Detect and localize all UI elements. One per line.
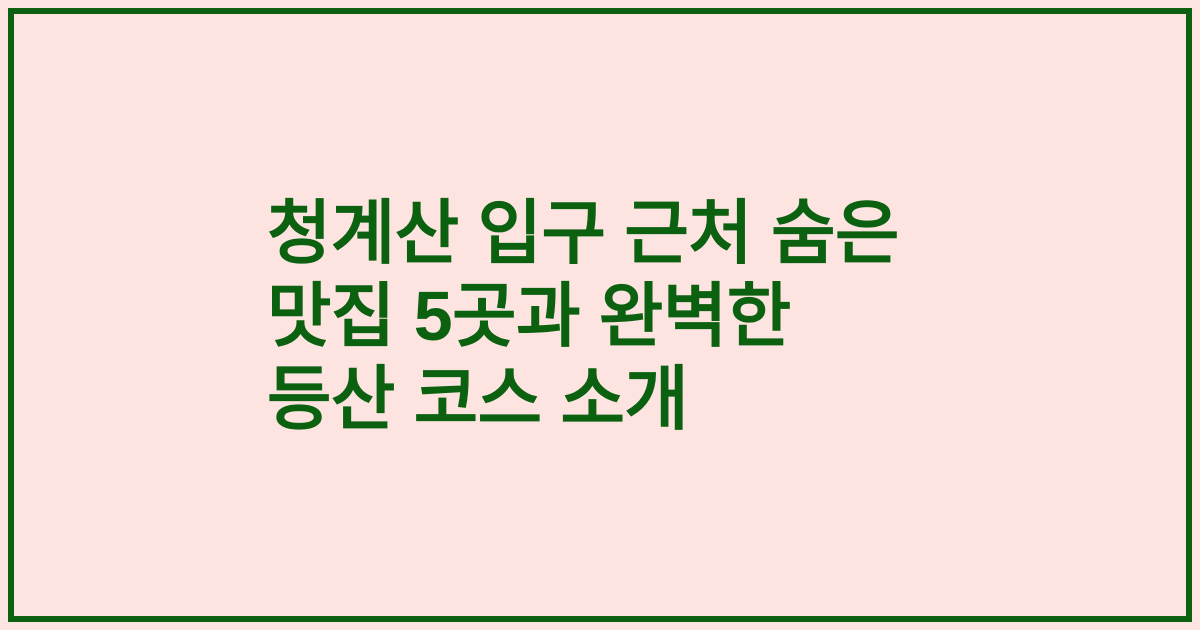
headline-block: 청계산 입구 근처 숨은 맛집 5곳과 완벽한 등산 코스 소개: [267, 192, 1147, 441]
headline-line-3: 등산 코스 소개: [267, 358, 1147, 441]
headline-line-1: 청계산 입구 근처 숨은: [267, 192, 1147, 275]
thumbnail-frame: 청계산 입구 근처 숨은 맛집 5곳과 완벽한 등산 코스 소개: [8, 8, 1192, 622]
headline-line-2: 맛집 5곳과 완벽한: [267, 275, 1147, 358]
thumbnail-canvas: 청계산 입구 근처 숨은 맛집 5곳과 완벽한 등산 코스 소개: [0, 0, 1200, 630]
